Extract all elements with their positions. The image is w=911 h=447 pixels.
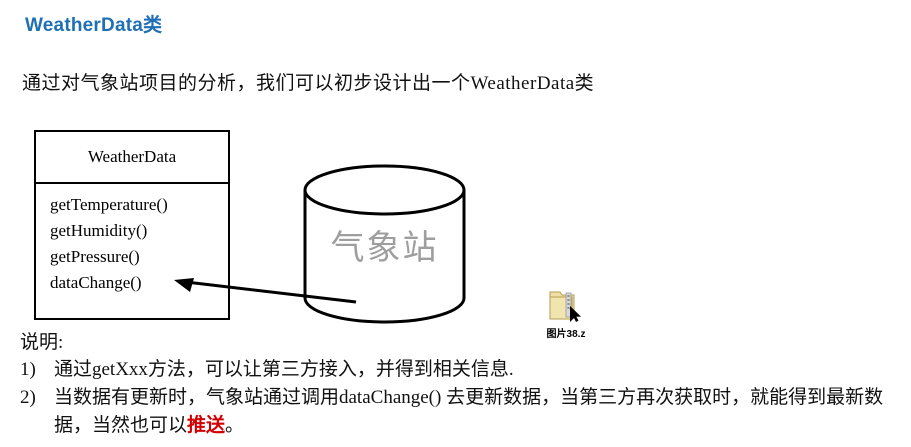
explanation-item-2: 2) 当数据有更新时，气象站通过调用dataChange() 去更新数据，当第三… xyxy=(20,384,900,440)
list-marker: 1) xyxy=(20,356,54,384)
explanation-block: 说明: 1) 通过getXxx方法，可以让第三方接入，并得到相关信息. 2) 当… xyxy=(20,330,900,440)
uml-method-item: getPressure() xyxy=(50,244,228,270)
list-marker: 2) xyxy=(20,384,54,440)
zip-folder-glyph xyxy=(528,288,604,324)
explanation-item-text: 通过getXxx方法，可以让第三方接入，并得到相关信息. xyxy=(54,356,900,384)
explanation-item-text: 当数据有更新时，气象站通过调用dataChange() 去更新数据，当第三方再次… xyxy=(54,384,900,440)
explanation-item-1: 1) 通过getXxx方法，可以让第三方接入，并得到相关信息. xyxy=(20,356,900,384)
connector-arrow xyxy=(168,268,358,318)
uml-method-item: getTemperature() xyxy=(50,192,228,218)
zip-folder-icon[interactable] xyxy=(528,288,604,324)
explanation-item-text-before: 当数据有更新时，气象站通过调用dataChange() 去更新数据，当第三方再次… xyxy=(54,387,883,436)
explanation-item-text-after: 。 xyxy=(225,415,244,436)
uml-class-name: WeatherData xyxy=(36,132,228,184)
explanation-heading: 说明: xyxy=(20,330,900,356)
intro-paragraph: 通过对气象站项目的分析，我们可以初步设计出一个WeatherData类 xyxy=(22,68,594,95)
explanation-highlight: 推送 xyxy=(187,415,225,436)
page-title: WeatherData类 xyxy=(25,10,162,37)
arrow-svg xyxy=(168,268,358,318)
uml-method-item: getHumidity() xyxy=(50,218,228,244)
